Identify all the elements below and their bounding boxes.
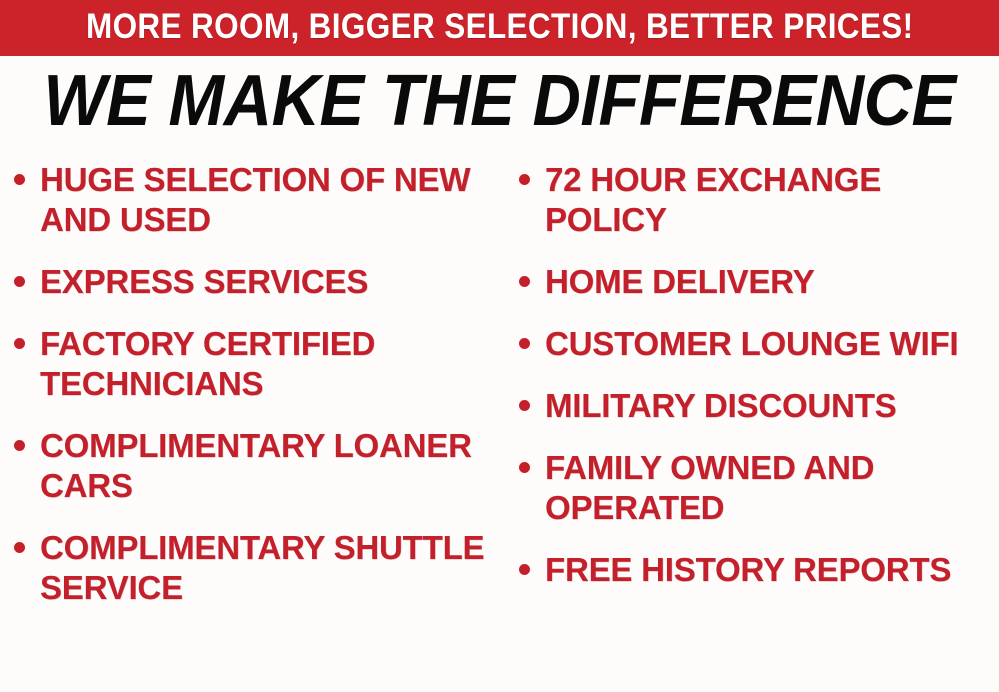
list-item-label: FACTORY CERTIFIED TECHNICIANS xyxy=(40,324,505,404)
list-item-label: MILITARY DISCOUNTS xyxy=(545,386,896,426)
list-item-label: FREE HISTORY REPORTS xyxy=(545,550,951,590)
headline: WE MAKE THE DIFFERENCE xyxy=(0,62,999,140)
list-item-label: COMPLIMENTARY LOANER CARS xyxy=(40,426,505,506)
bullet-dot-icon xyxy=(14,174,25,185)
list-item: FAMILY OWNED AND OPERATED xyxy=(519,448,999,528)
bullet-dot-icon xyxy=(519,564,530,575)
bullet-dot-icon xyxy=(14,440,25,451)
dealership-benefits-poster: MORE ROOM, BIGGER SELECTION, BETTER PRIC… xyxy=(0,0,999,692)
bullet-dot-icon xyxy=(519,462,530,473)
headline-text: WE MAKE THE DIFFERENCE xyxy=(43,62,955,140)
list-item-label: EXPRESS SERVICES xyxy=(40,262,368,302)
list-item: CUSTOMER LOUNGE WIFI xyxy=(519,324,999,364)
bullet-dot-icon xyxy=(519,400,530,411)
list-item: HUGE SELECTION OF NEW AND USED xyxy=(14,160,505,240)
bullet-dot-icon xyxy=(14,276,25,287)
list-item: FREE HISTORY REPORTS xyxy=(519,550,999,590)
list-item-label: HOME DELIVERY xyxy=(545,262,814,302)
list-item: MILITARY DISCOUNTS xyxy=(519,386,999,426)
list-item: 72 HOUR EXCHANGE POLICY xyxy=(519,160,999,240)
list-item: EXPRESS SERVICES xyxy=(14,262,505,302)
list-item-label: FAMILY OWNED AND OPERATED xyxy=(545,448,999,528)
list-item-label: COMPLIMENTARY SHUTTLE SERVICE xyxy=(40,528,505,608)
list-item: COMPLIMENTARY SHUTTLE SERVICE xyxy=(14,528,505,608)
bullet-dot-icon xyxy=(519,276,530,287)
list-item-label: HUGE SELECTION OF NEW AND USED xyxy=(40,160,505,240)
bullet-dot-icon xyxy=(519,174,530,185)
list-item: HOME DELIVERY xyxy=(519,262,999,302)
bullet-dot-icon xyxy=(14,338,25,349)
benefits-column-right: 72 HOUR EXCHANGE POLICY HOME DELIVERY CU… xyxy=(505,160,999,612)
list-item: COMPLIMENTARY LOANER CARS xyxy=(14,426,505,506)
top-promo-banner-text: MORE ROOM, BIGGER SELECTION, BETTER PRIC… xyxy=(86,9,914,45)
top-promo-banner: MORE ROOM, BIGGER SELECTION, BETTER PRIC… xyxy=(0,0,999,56)
benefits-column-left: HUGE SELECTION OF NEW AND USED EXPRESS S… xyxy=(0,160,505,630)
bullet-dot-icon xyxy=(519,338,530,349)
bullet-dot-icon xyxy=(14,542,25,553)
list-item-label: CUSTOMER LOUNGE WIFI xyxy=(545,324,958,364)
benefits-columns: HUGE SELECTION OF NEW AND USED EXPRESS S… xyxy=(0,160,999,692)
list-item-label: 72 HOUR EXCHANGE POLICY xyxy=(545,160,999,240)
list-item: FACTORY CERTIFIED TECHNICIANS xyxy=(14,324,505,404)
